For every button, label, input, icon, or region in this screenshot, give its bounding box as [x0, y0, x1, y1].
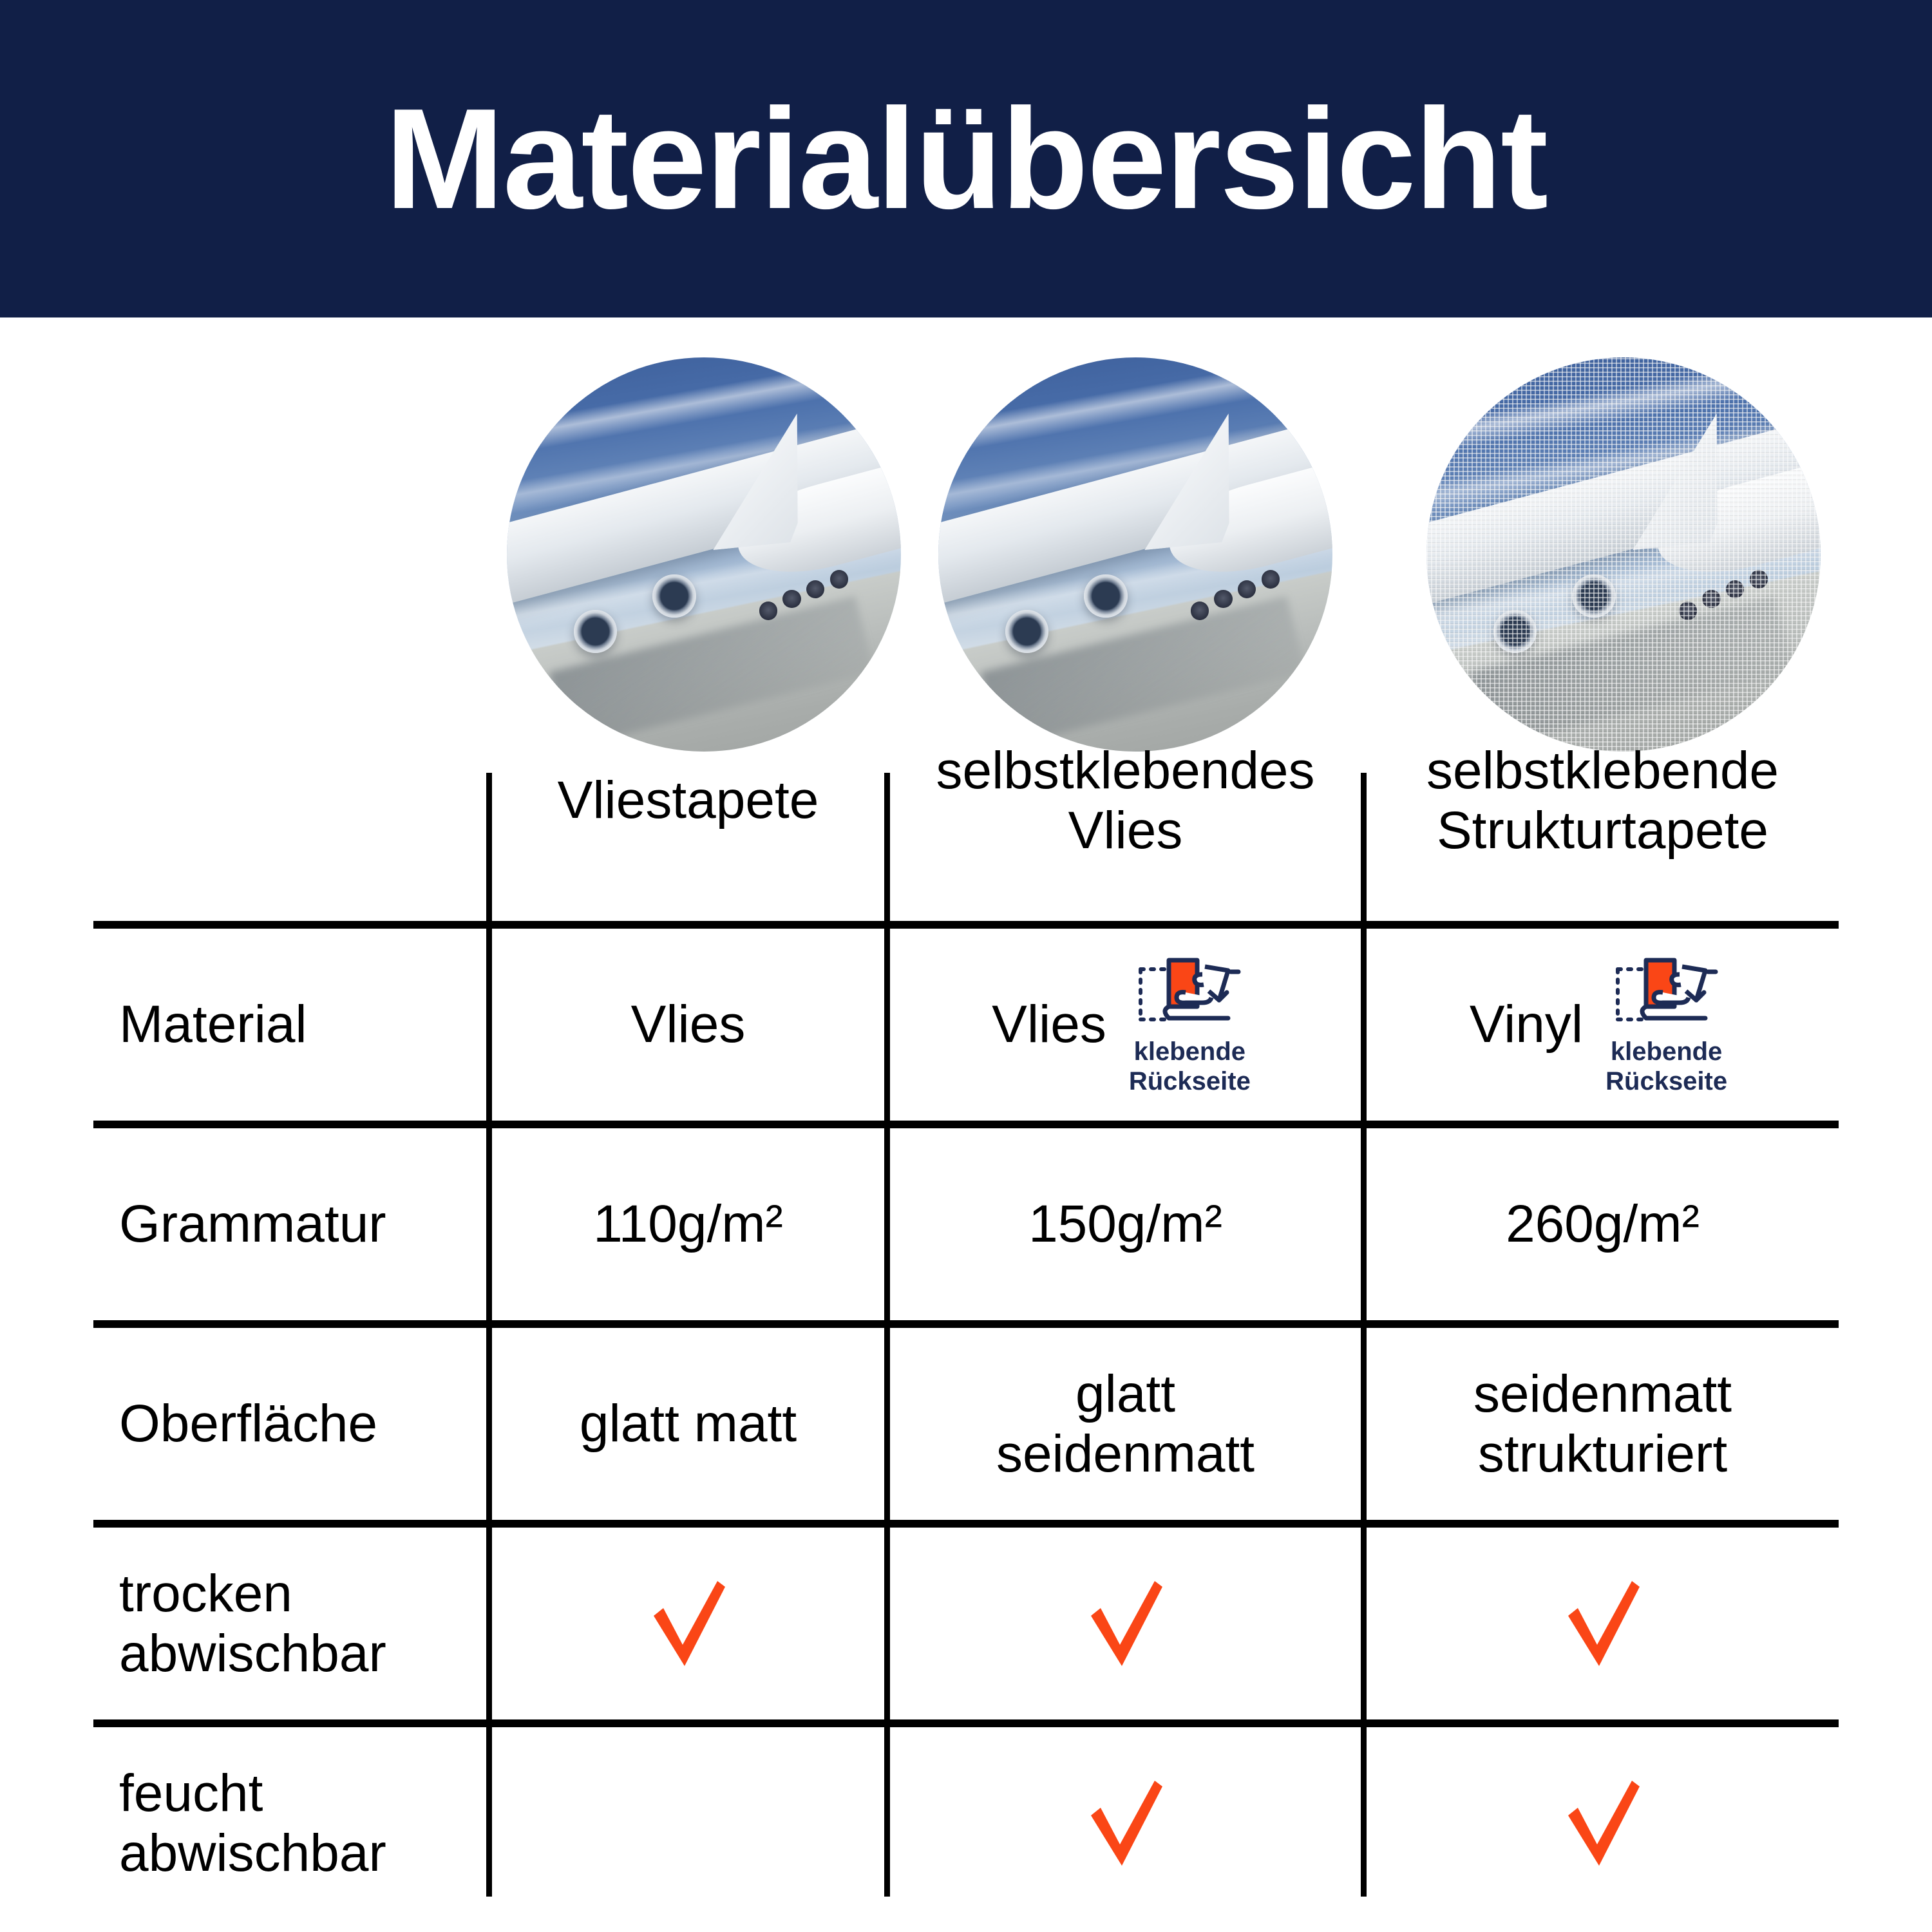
landing-gear-wheel	[1191, 601, 1209, 620]
cell-value-line1: seidenmatt	[1473, 1364, 1732, 1424]
cell-value: Vlies	[992, 994, 1106, 1054]
cell-trocken-selbstklebendes-vlies	[890, 1528, 1361, 1719]
cell-material-vliestapete: Vlies	[492, 929, 884, 1121]
cell-value-line2: strukturiert	[1473, 1424, 1732, 1484]
row-label-feucht-abwischbar: feucht abwischbar	[93, 1727, 486, 1919]
row-divider	[93, 1320, 1839, 1328]
column-header-line2: Vlies	[936, 800, 1314, 860]
cell-oberflaeche-vliestapete: glatt matt	[492, 1328, 884, 1520]
landing-gear-wheel	[782, 590, 800, 608]
cell-value-line1: glatt matt	[580, 1394, 797, 1454]
landing-gear-wheel	[830, 570, 848, 588]
landing-gear-wheel	[759, 601, 777, 620]
peel-adhesive-backing-icon	[1613, 952, 1721, 1034]
cell-grammatur-vliestapete: 110g/m²	[492, 1128, 884, 1320]
column-header-line1: selbstklebendes	[936, 741, 1314, 800]
cell-material-selbstklebendes-vlies: Vlies klebende Rückseite	[890, 929, 1361, 1121]
landing-gear-wheel	[806, 580, 824, 598]
plane-engine	[574, 610, 617, 653]
badge-line2: Rückseite	[1605, 1067, 1727, 1097]
column-divider	[1361, 773, 1367, 1897]
adhesive-backing-badge: klebende Rückseite	[1121, 952, 1259, 1096]
plane-engine	[652, 574, 696, 618]
column-header-vliestapete: Vliestapete	[492, 681, 884, 920]
checkmark-icon	[1077, 1575, 1174, 1672]
column-header-selbstklebendes-vlies: selbstklebendes Vlies	[890, 681, 1361, 920]
checkmark-icon	[1555, 1575, 1651, 1672]
cell-oberflaeche-selbstklebendes-vlies: glatt seidenmatt	[890, 1328, 1361, 1520]
landing-gear-wheel	[1238, 580, 1256, 598]
row-divider	[93, 1121, 1839, 1128]
cell-trocken-selbstklebende-strukturtapete	[1367, 1528, 1839, 1719]
cell-value-line1: glatt	[996, 1364, 1255, 1424]
badge-line1: klebende	[1129, 1037, 1251, 1067]
cell-trocken-vliestapete	[492, 1528, 884, 1719]
column-header-selbstklebende-strukturtapete: selbstklebende Strukturtapete	[1367, 681, 1839, 920]
cell-oberflaeche-selbstklebende-strukturtapete: seidenmatt strukturiert	[1367, 1328, 1839, 1520]
checkmark-icon	[1077, 1775, 1174, 1871]
checkmark-icon	[1555, 1775, 1651, 1871]
column-divider	[486, 773, 492, 1897]
row-divider	[93, 1719, 1839, 1727]
adhesive-backing-badge: klebende Rückseite	[1597, 952, 1736, 1096]
row-divider	[93, 921, 1839, 929]
badge-line2: Rückseite	[1129, 1067, 1251, 1097]
page-title: Materialübersicht	[385, 88, 1547, 231]
row-label-line1: trocken	[119, 1564, 386, 1624]
plane-engine	[1084, 574, 1127, 618]
checkmark-icon	[640, 1575, 737, 1672]
cell-feucht-selbstklebende-strukturtapete	[1367, 1727, 1839, 1919]
column-divider	[884, 773, 890, 1897]
row-label-trocken-abwischbar: trocken abwischbar	[93, 1528, 486, 1719]
cell-value-line2: seidenmatt	[996, 1424, 1255, 1484]
cell-feucht-selbstklebendes-vlies	[890, 1727, 1361, 1919]
row-divider	[93, 1520, 1839, 1528]
row-label-oberflaeche: Oberfläche	[93, 1328, 486, 1520]
badge-line1: klebende	[1605, 1037, 1727, 1067]
row-label-material: Material	[93, 929, 486, 1121]
material-comparison-table: Vliestapete selbstklebendes Vlies selbst…	[93, 773, 1839, 1897]
header-banner: Materialübersicht	[0, 0, 1932, 317]
table-header-corner	[93, 681, 486, 920]
row-label-line2: abwischbar	[119, 1624, 386, 1683]
row-label-grammatur: Grammatur	[93, 1128, 486, 1320]
landing-gear-wheel	[1262, 570, 1280, 588]
adhesive-badge-text: klebende Rückseite	[1605, 1037, 1727, 1096]
peel-adhesive-backing-icon	[1135, 952, 1244, 1034]
cell-feucht-vliestapete	[492, 1727, 884, 1919]
cell-material-selbstklebende-strukturtapete: Vinyl klebende Rückseite	[1367, 929, 1839, 1121]
column-header-line1: selbstklebende	[1426, 741, 1779, 800]
row-label-line1: feucht	[119, 1763, 386, 1823]
cell-grammatur-selbstklebendes-vlies: 150g/m²	[890, 1128, 1361, 1320]
column-header-line2: Strukturtapete	[1426, 800, 1779, 860]
row-label-line2: abwischbar	[119, 1823, 386, 1883]
adhesive-badge-text: klebende Rückseite	[1129, 1037, 1251, 1096]
cell-grammatur-selbstklebende-strukturtapete: 260g/m²	[1367, 1128, 1839, 1320]
plane-engine	[1005, 610, 1048, 653]
landing-gear-wheel	[1214, 590, 1232, 608]
cell-value: Vinyl	[1470, 994, 1583, 1054]
